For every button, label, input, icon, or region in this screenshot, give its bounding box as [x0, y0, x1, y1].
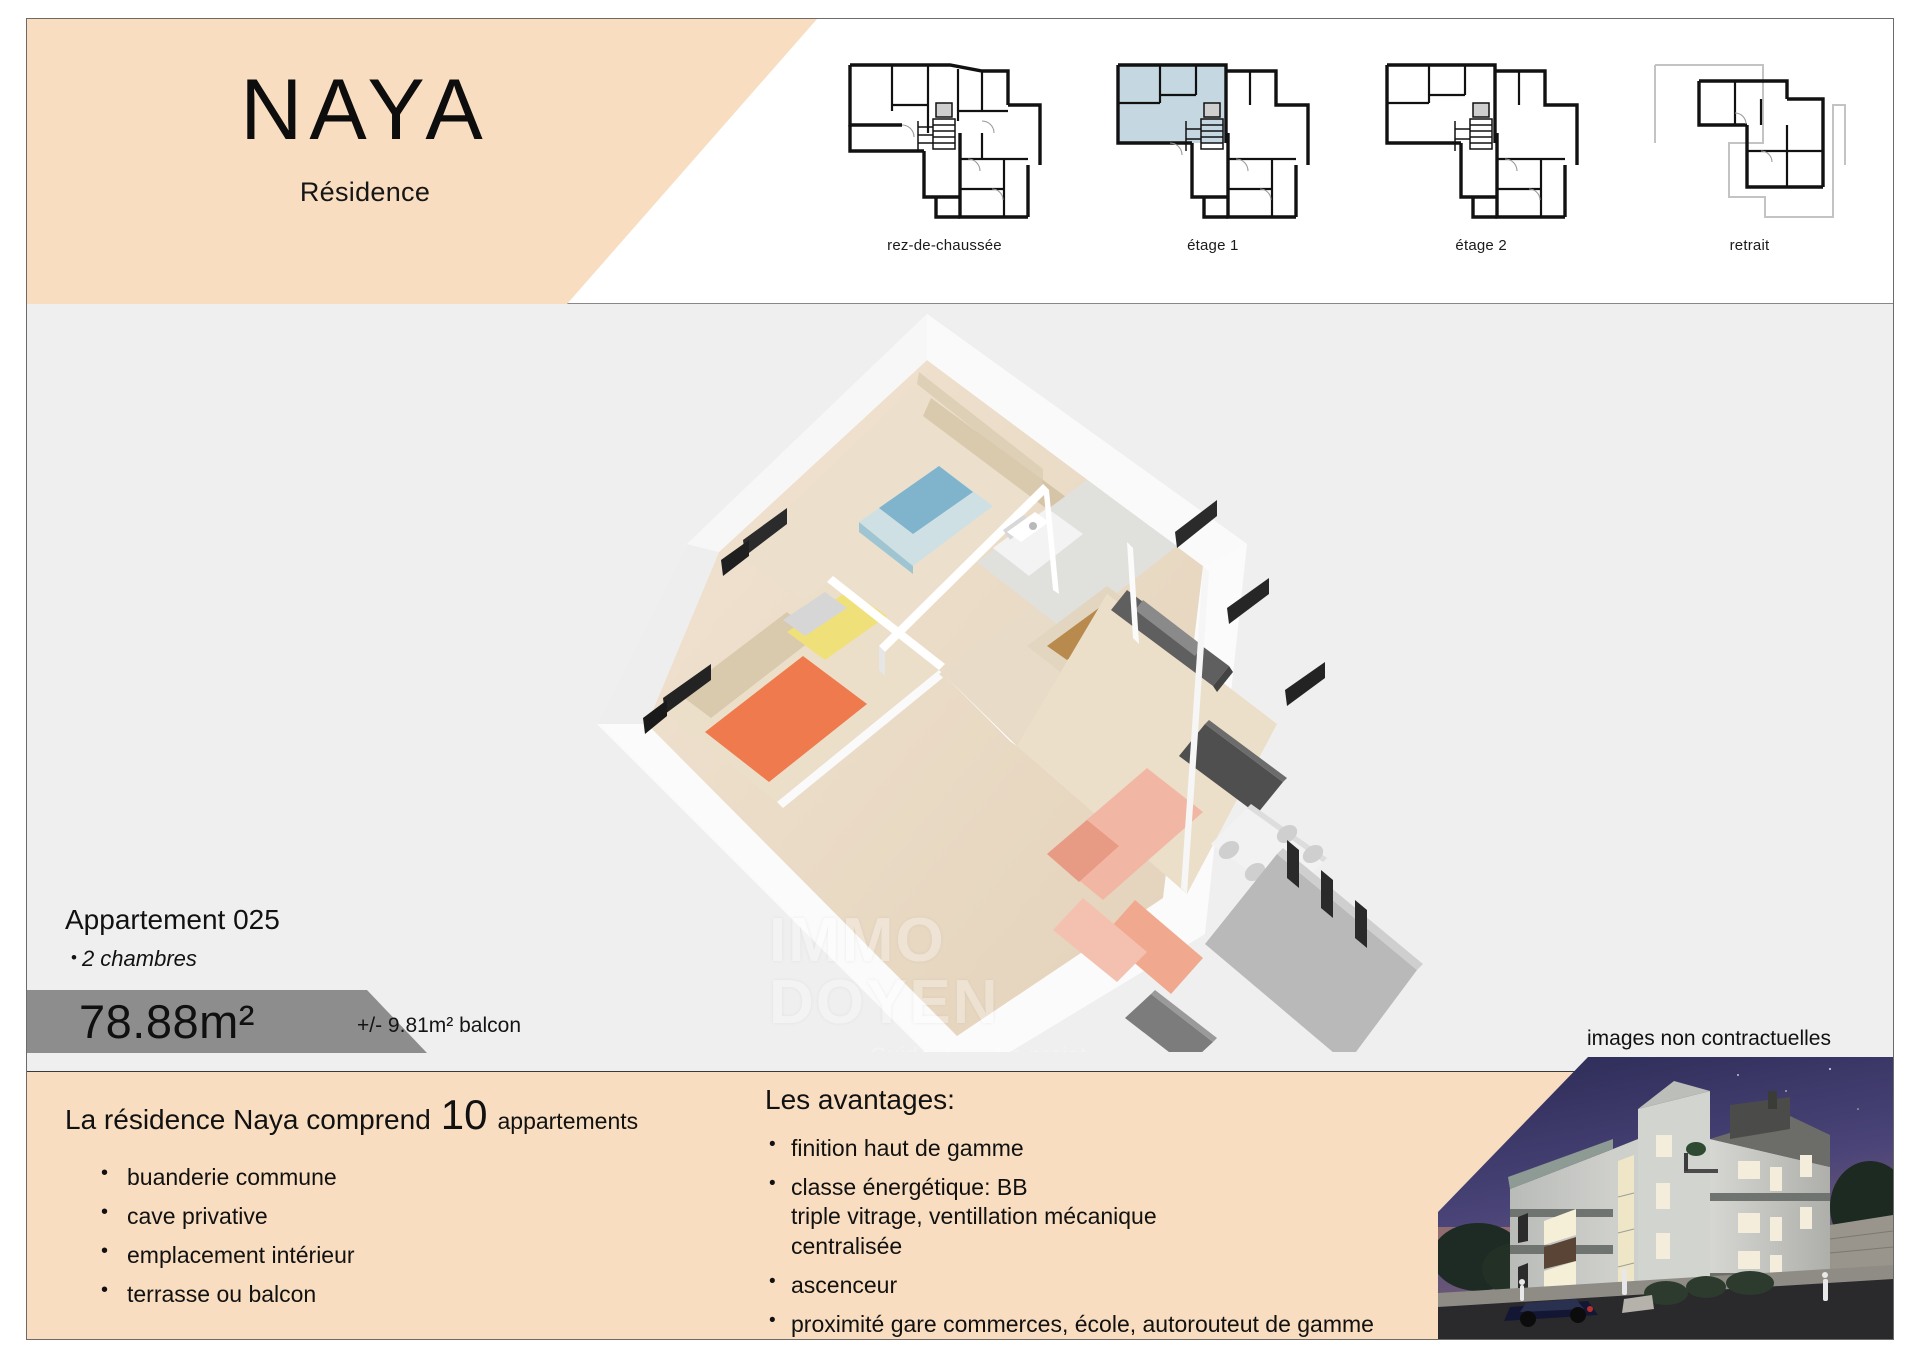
- apartment-title: Appartement 025: [65, 904, 280, 936]
- apartment-balcony: +/- 9.81m² balcon: [357, 1014, 521, 1038]
- floor-plan-label: rez-de-chaussée: [887, 237, 1002, 254]
- building-exterior-photo: [1438, 1057, 1893, 1339]
- list-item: emplacement intérieur: [87, 1242, 355, 1269]
- list-item: classe énergétique: BB triple vitrage, v…: [765, 1173, 1445, 1261]
- bottom-panel: La résidence Naya comprend 10 appartemen…: [27, 1071, 1893, 1339]
- header: NAYA Résidence: [27, 19, 1893, 304]
- floor-plan-etage-2[interactable]: étage 2: [1364, 47, 1599, 254]
- apartment-3d-render: [487, 304, 1497, 1052]
- apartment-area: 78.88m²: [79, 994, 255, 1049]
- floor-plan-thumbnails: rez-de-chaussée: [827, 47, 1867, 277]
- brochure-page: NAYA Résidence: [26, 18, 1894, 1340]
- floor-plan-thumb-icon: [1637, 47, 1862, 229]
- list-item: ascenceur: [765, 1271, 1445, 1300]
- floor-plan-thumb-icon: [1369, 47, 1594, 229]
- floor-plan-thumb-icon: [1100, 47, 1325, 229]
- apartment-rooms: 2 chambres: [71, 946, 197, 972]
- advantages-title: Les avantages:: [765, 1084, 955, 1116]
- residence-count: 10: [441, 1094, 488, 1136]
- list-item: cave privative: [87, 1203, 355, 1230]
- list-item: buanderie commune: [87, 1164, 355, 1191]
- floor-plan-retrait[interactable]: retrait: [1632, 47, 1867, 254]
- floor-plan-label: retrait: [1730, 237, 1770, 254]
- residence-suffix: appartements: [497, 1108, 638, 1135]
- list-item: proximité gare commerces, école, autorou…: [765, 1310, 1445, 1339]
- floor-plan-rez-de-chaussee[interactable]: rez-de-chaussée: [827, 47, 1062, 254]
- floor-plan-thumb-icon: [832, 47, 1057, 229]
- floor-plan-etage-1[interactable]: étage 1: [1095, 47, 1330, 254]
- floor-plan-label: étage 2: [1455, 237, 1506, 254]
- apartment-render-area: IMMO DOYEN Guide de votre projet images …: [27, 304, 1893, 1052]
- disclaimer-text: images non contractuelles: [1587, 1027, 1831, 1051]
- brand-block: NAYA Résidence: [155, 67, 575, 208]
- advantages-list: finition haut de gamme classe énergétiqu…: [765, 1134, 1445, 1340]
- residence-summary: La résidence Naya comprend 10 appartemen…: [65, 1094, 638, 1136]
- floor-plan-label: étage 1: [1187, 237, 1238, 254]
- list-item: finition haut de gamme: [765, 1134, 1445, 1163]
- brand-subtitle: Résidence: [155, 177, 575, 208]
- list-item: terrasse ou balcon: [87, 1281, 355, 1308]
- residence-prefix: La résidence Naya comprend: [65, 1104, 431, 1136]
- residence-features-list: buanderie commune cave privative emplace…: [87, 1164, 355, 1320]
- brand-title: NAYA: [155, 67, 575, 153]
